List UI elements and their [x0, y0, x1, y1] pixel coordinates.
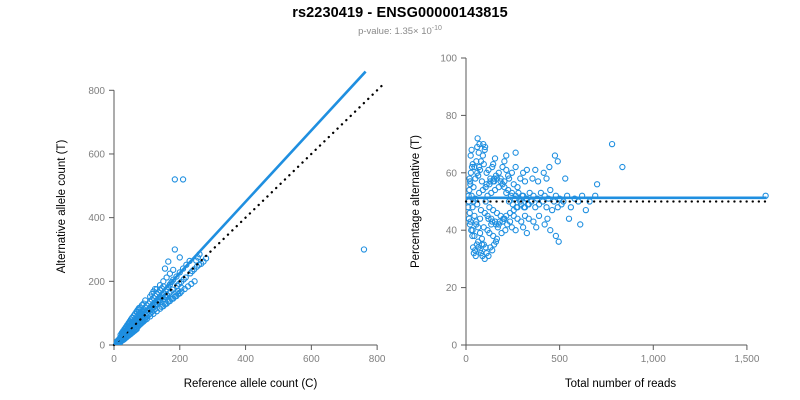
- data-point: [536, 213, 541, 218]
- data-point: [530, 176, 535, 181]
- x-tick-label: 1,000: [641, 354, 666, 365]
- data-point: [568, 205, 573, 210]
- x-tick-label: 800: [369, 354, 386, 365]
- data-point: [513, 150, 518, 155]
- data-point: [524, 230, 529, 235]
- data-point: [492, 156, 497, 161]
- data-point: [171, 267, 176, 272]
- y-tick-label: 0: [99, 341, 105, 352]
- data-point: [556, 239, 561, 244]
- data-point: [468, 153, 473, 158]
- figure-container: rs2230419 - ENSG00000143815 p-value: 1.3…: [0, 0, 800, 400]
- data-point: [476, 150, 481, 155]
- x-tick-label: 500: [551, 354, 568, 365]
- data-point: [548, 187, 553, 192]
- data-points-group: [114, 177, 367, 346]
- data-point: [544, 176, 549, 181]
- y-tick-label: 40: [446, 226, 458, 237]
- right-panel: 05001,0001,500020406080100: [440, 54, 769, 366]
- data-point: [536, 179, 541, 184]
- data-point: [534, 225, 539, 230]
- data-point: [515, 185, 520, 190]
- data-point: [502, 159, 507, 164]
- data-point: [475, 202, 480, 207]
- data-point: [521, 225, 526, 230]
- data-point: [177, 255, 182, 260]
- data-point: [477, 216, 482, 221]
- data-point: [513, 228, 518, 233]
- data-point: [620, 164, 625, 169]
- data-point: [467, 187, 472, 192]
- data-point: [467, 210, 472, 215]
- x-tick-label: 1,500: [734, 354, 759, 365]
- data-point: [563, 176, 568, 181]
- data-point: [609, 142, 614, 147]
- x-tick-label: 600: [303, 354, 320, 365]
- data-point: [550, 208, 555, 213]
- data-point: [566, 216, 571, 221]
- y-tick-label: 400: [88, 213, 105, 224]
- right-panel-y-axis-title: Percentage alternative (T): [410, 58, 422, 345]
- data-point: [533, 167, 538, 172]
- data-point: [578, 222, 583, 227]
- y-tick-label: 0: [451, 341, 457, 352]
- data-point: [477, 230, 482, 235]
- fit-line: [114, 72, 366, 345]
- x-tick-label: 0: [111, 354, 117, 365]
- data-point: [545, 216, 550, 221]
- data-point: [548, 228, 553, 233]
- data-point: [583, 208, 588, 213]
- x-tick-label: 0: [463, 354, 469, 365]
- right-panel-x-axis-title: Total number of reads: [0, 378, 800, 390]
- data-point: [479, 179, 484, 184]
- left-panel-y-axis-title: Alternative allele count (T): [56, 68, 68, 345]
- data-point: [166, 259, 171, 264]
- data-point: [547, 164, 552, 169]
- y-tick-label: 200: [88, 277, 105, 288]
- y-tick-label: 100: [440, 54, 457, 65]
- data-point: [503, 228, 508, 233]
- data-point: [553, 233, 558, 238]
- y-tick-label: 60: [446, 168, 458, 179]
- x-tick-label: 400: [237, 354, 254, 365]
- data-point: [524, 167, 529, 172]
- data-point: [544, 205, 549, 210]
- data-point: [172, 247, 177, 252]
- y-tick-label: 20: [446, 283, 458, 294]
- x-tick-label: 200: [171, 354, 188, 365]
- data-point: [361, 247, 366, 252]
- y-tick-label: 600: [88, 149, 105, 160]
- data-point: [522, 179, 527, 184]
- data-point: [594, 182, 599, 187]
- data-point: [162, 266, 167, 271]
- data-point: [519, 219, 524, 224]
- data-point: [541, 170, 546, 175]
- data-point: [513, 164, 518, 169]
- y-tick-label: 80: [446, 111, 458, 122]
- data-point: [180, 177, 185, 182]
- data-point: [172, 177, 177, 182]
- data-point: [542, 222, 547, 227]
- data-point: [475, 136, 480, 141]
- data-point: [509, 170, 514, 175]
- data-point: [504, 167, 509, 172]
- data-point: [555, 159, 560, 164]
- data-point: [552, 153, 557, 158]
- data-point: [531, 219, 536, 224]
- data-point: [469, 147, 474, 152]
- left-panel: 02004006008000200400600800: [88, 72, 386, 365]
- y-tick-label: 800: [88, 86, 105, 97]
- reference-line: [114, 86, 382, 345]
- data-point: [468, 170, 473, 175]
- data-point: [504, 153, 509, 158]
- plot-canvas: 0200400600800020040060080005001,0001,500…: [0, 0, 800, 400]
